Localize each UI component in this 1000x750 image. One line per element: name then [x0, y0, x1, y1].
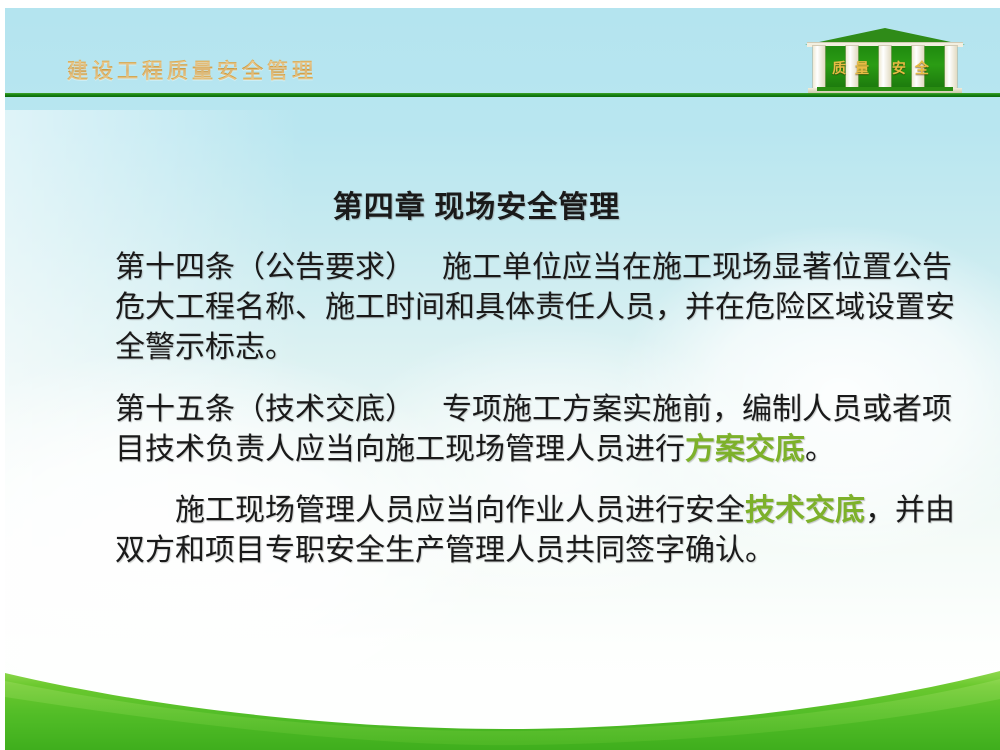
highlighted-term: 方案交底: [685, 432, 805, 467]
paragraph-text: 第十四条（公告要求）: [115, 251, 415, 284]
paragraph-article-15: 第十五条（技术交底）专项施工方案实施前，编制人员或者项目技术负责人应当向施工现场…: [115, 390, 958, 470]
page-title: 第四章 现场安全管理: [115, 182, 958, 226]
logo-base-band: [817, 87, 953, 91]
header-title: 建设工程质量安全管理: [67, 55, 317, 85]
paragraph-article-15-para-2: 施工现场管理人员应当向作业人员进行安全技术交底，并由双方和项目专职安全生产管理人…: [115, 491, 958, 571]
grass-field-decoration: [5, 655, 1000, 750]
presentation-slide: 建设工程质量安全管理 质量 安全 第四章 现场安全管理 第十四条（公告要求）施工…: [0, 0, 1000, 750]
paragraph-list: 第十四条（公告要求）施工单位应当在施工现场显著位置公告危大工程名称、施工时间和具…: [115, 248, 958, 571]
paragraph-text: 施工现场管理人员应当向作业人员进行安全: [175, 494, 745, 527]
slide-content: 第四章 现场安全管理 第十四条（公告要求）施工单位应当在施工现场显著位置公告危大…: [5, 110, 1000, 655]
paragraph-text: 第十五条（技术交底）: [115, 393, 415, 426]
paragraph-article-14: 第十四条（公告要求）施工单位应当在施工现场显著位置公告危大工程名称、施工时间和具…: [115, 248, 958, 368]
highlighted-term: 技术交底: [745, 493, 865, 528]
logo-text: 质量 安全: [805, 58, 965, 78]
paragraph-text: 。: [805, 433, 835, 466]
quality-safety-temple-logo: 质量 安全: [805, 28, 965, 98]
